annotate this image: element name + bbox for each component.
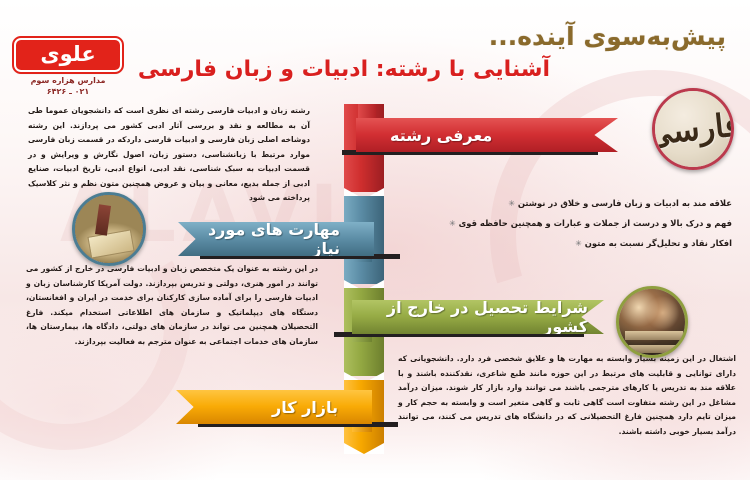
logo-phone: ۰۲۱ ـ ۶۴۲۶ xyxy=(14,87,122,96)
logo-wordmark: علوی xyxy=(14,38,122,72)
banner-job-market[interactable]: بازار کار xyxy=(176,390,372,424)
banner-introduction-ribbon: معرفی رشته xyxy=(356,118,618,152)
paragraph-introduction: رشته زبان و ادبیات فارسی رشته ای نظری اس… xyxy=(28,104,310,206)
paragraph-job-market: اشتغال در این زمینه بسیار وابسته به مهار… xyxy=(398,352,736,439)
brand-logo[interactable]: علوی مدارس هزاره سوم ۰۲۱ ـ ۶۴۲۶ xyxy=(14,38,122,96)
page-title-sub: آشنایی با رشته: ادبیات و زبان فارسی xyxy=(138,57,550,82)
bullet-skills-3: افکار نقاد و تحلیل‌گر نسبت به متون xyxy=(585,234,732,254)
asterisk-icon: ✳ xyxy=(575,239,582,248)
classroom-photo-inner xyxy=(619,289,685,355)
asterisk-icon: ✳ xyxy=(449,219,456,228)
book-spine-shape xyxy=(95,204,111,235)
banner-skills[interactable]: مهارت های مورد نیاز xyxy=(178,222,374,256)
banner-skills-ribbon: مهارت های مورد نیاز xyxy=(178,222,374,256)
bullet-skills-2: فهم و درک بالا و درست از جملات و عبارات … xyxy=(459,214,732,234)
calligraphy-badge-inner: فارسی xyxy=(655,91,731,167)
desk-shape xyxy=(625,331,683,340)
bullet-list-skills: علاقه مند به ادبیات و زبان فارسی و خلاق … xyxy=(392,194,732,253)
list-item: افکار نقاد و تحلیل‌گر نسبت به متون ✳ xyxy=(392,234,732,254)
list-item: فهم و درک بالا و درست از جملات و عبارات … xyxy=(392,214,732,234)
logo-subtitle: مدارس هزاره سوم xyxy=(14,76,122,85)
infographic-page: ALAVI علوی مدارس هزاره سوم ۰۲۱ ـ ۶۴۲۶ پی… xyxy=(0,0,750,480)
classroom-photo xyxy=(616,286,688,358)
banner-job-market-label: بازار کار xyxy=(272,398,338,417)
banner-introduction[interactable]: معرفی رشته xyxy=(356,118,618,152)
banner-study-abroad[interactable]: شرایط تحصیل در خارج از کشور xyxy=(352,300,604,334)
banner-study-abroad-ribbon: شرایط تحصیل در خارج از کشور xyxy=(352,300,604,334)
banner-introduction-label: معرفی رشته xyxy=(390,126,492,145)
calligraphy-badge-label: فارسی xyxy=(652,105,734,153)
banner-study-abroad-label: شرایط تحصیل در خارج از کشور xyxy=(386,298,588,336)
paragraph-study-abroad: در این رشته به عنوان یک متخصص زبان و ادب… xyxy=(26,262,318,349)
asterisk-icon: ✳ xyxy=(508,199,515,208)
bullet-skills-1: علاقه مند به ادبیات و زبان فارسی و خلاق … xyxy=(518,194,732,214)
page-title-main: پیش‌به‌سوی آینده... xyxy=(489,22,726,51)
list-item: علاقه مند به ادبیات و زبان فارسی و خلاق … xyxy=(392,194,732,214)
banner-skills-label: مهارت های مورد نیاز xyxy=(194,220,340,258)
banner-job-market-ribbon: بازار کار xyxy=(176,390,372,424)
calligraphy-badge: فارسی xyxy=(652,88,734,170)
